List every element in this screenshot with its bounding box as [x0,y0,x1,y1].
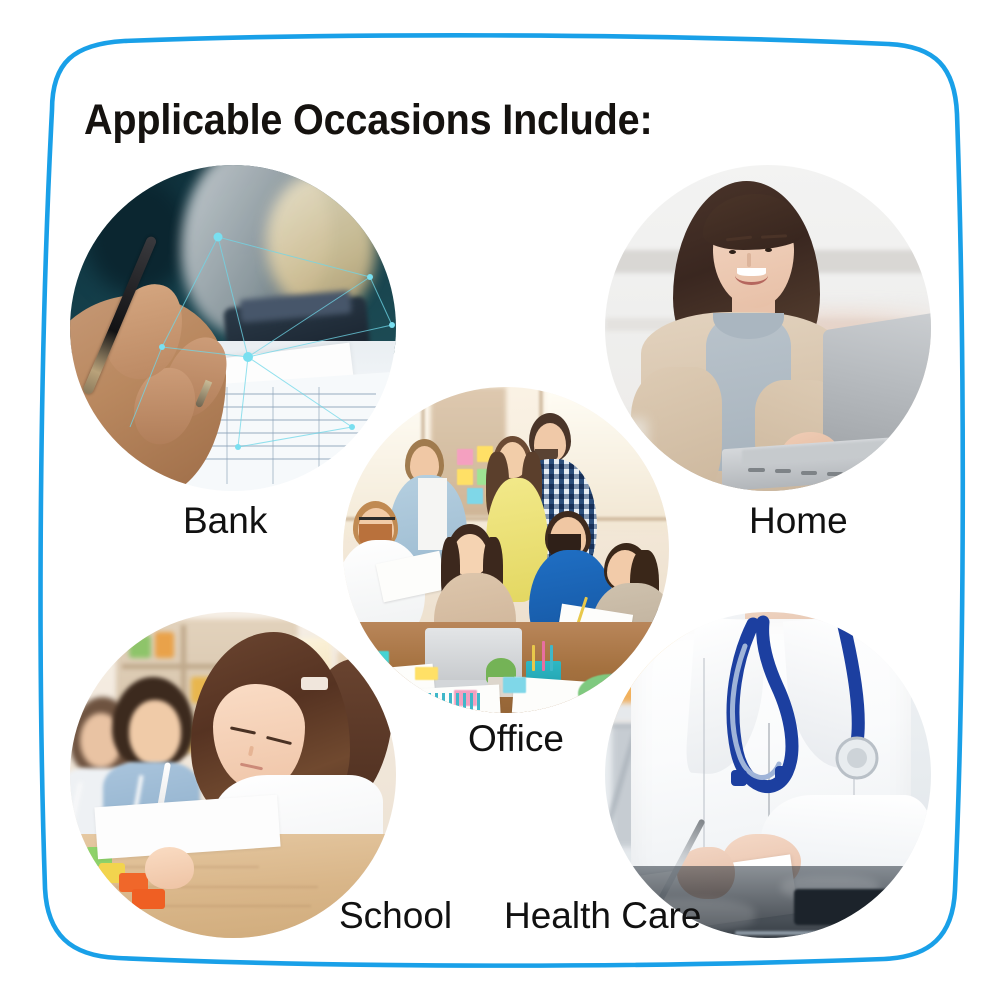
occasion-label-home: Home [749,500,848,542]
health-care-scene-icon [605,612,931,938]
occasion-circle-health-care [605,612,931,938]
occasion-label-health-care: Health Care [504,895,701,937]
occasion-circle-school [70,612,396,938]
page-title: Applicable Occasions Include: [84,96,652,145]
infographic-canvas: Applicable Occasions Include: [0,0,1000,1000]
occasion-label-school: School [339,895,452,937]
school-scene-icon [70,612,396,938]
occasion-label-bank: Bank [183,500,267,542]
occasion-label-office: Office [468,718,564,760]
